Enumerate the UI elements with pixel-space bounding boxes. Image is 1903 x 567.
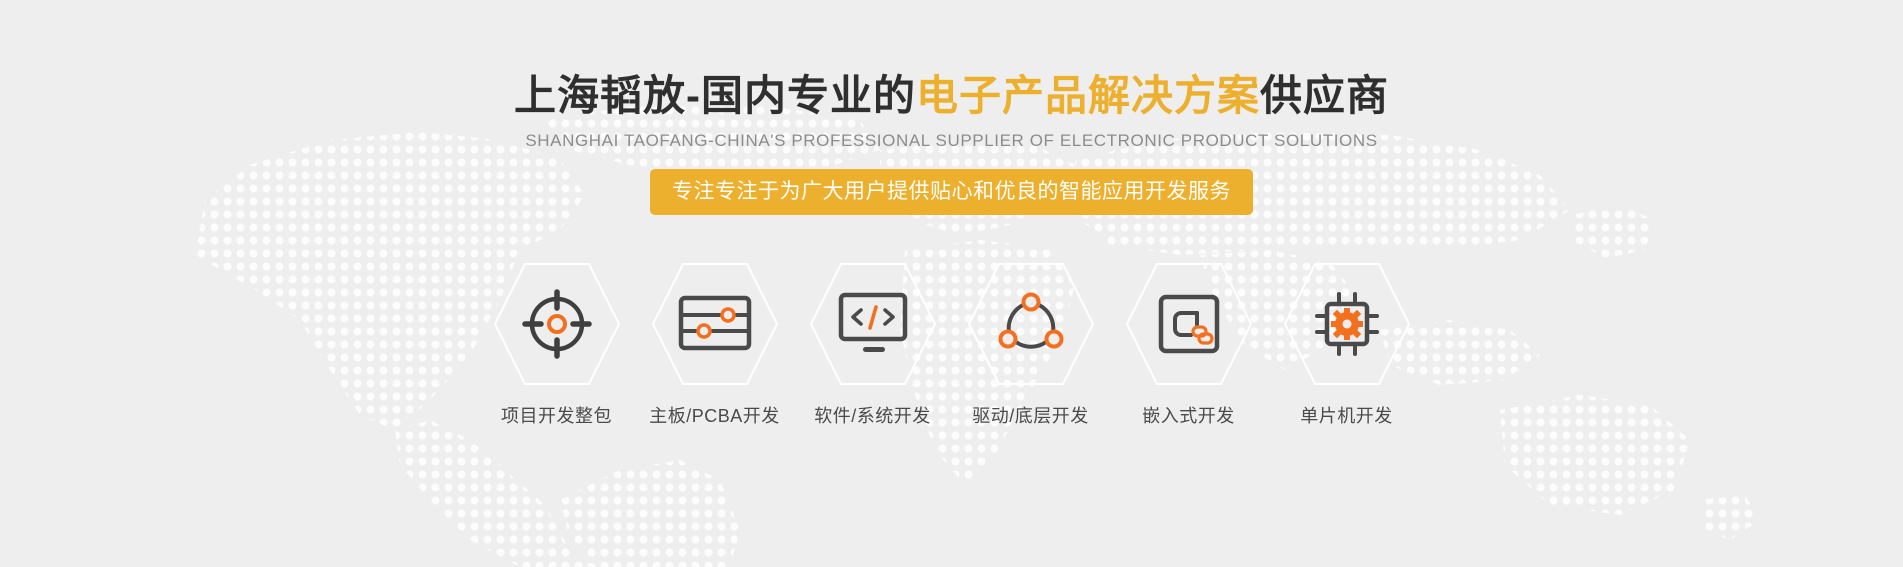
feature-item-pcba[interactable]: 主板/PCBA开发: [636, 262, 794, 428]
tagline-row: 专注专注于为广大用户提供贴心和优良的智能应用开发服务: [0, 169, 1903, 215]
headline-block: 上海韬放-国内专业的电子产品解决方案供应商 SHANGHAI TAOFANG-C…: [0, 72, 1903, 215]
feature-item-project-package[interactable]: 项目开发整包: [478, 262, 636, 428]
monitor-code-icon: [809, 262, 937, 386]
feature-label: 软件/系统开发: [814, 402, 931, 428]
hexagon-frame: [493, 262, 621, 386]
embedded-link-icon: [1125, 262, 1253, 386]
headline-part-2-accent: 电子产品解决方案: [916, 72, 1260, 119]
headline-part-1: 上海韬放-国内专业的: [514, 72, 916, 119]
feature-item-software[interactable]: 软件/系统开发: [794, 262, 952, 428]
circuit-board-icon: [651, 262, 779, 386]
feature-label: 主板/PCBA开发: [649, 402, 780, 428]
page-title: 上海韬放-国内专业的电子产品解决方案供应商: [0, 72, 1903, 121]
feature-label: 单片机开发: [1300, 402, 1393, 428]
feature-item-mcu[interactable]: 单片机开发: [1268, 262, 1426, 428]
headline-part-3: 供应商: [1260, 72, 1389, 119]
feature-label: 嵌入式开发: [1142, 402, 1235, 428]
hexagon-frame: [809, 262, 937, 386]
hexagon-frame: [1125, 262, 1253, 386]
hexagon-frame: [967, 262, 1095, 386]
microchip-gear-icon: [1283, 262, 1411, 386]
hexagon-frame: [651, 262, 779, 386]
subheadline: SHANGHAI TAOFANG-CHINA'S PROFESSIONAL SU…: [0, 131, 1903, 151]
feature-item-driver[interactable]: 驱动/底层开发: [952, 262, 1110, 428]
feature-label: 项目开发整包: [501, 402, 612, 428]
tagline-badge: 专注专注于为广大用户提供贴心和优良的智能应用开发服务: [650, 169, 1253, 215]
node-network-icon: [967, 262, 1095, 386]
hexagon-frame: [1283, 262, 1411, 386]
feature-item-embedded[interactable]: 嵌入式开发: [1110, 262, 1268, 428]
hero-banner: 上海韬放-国内专业的电子产品解决方案供应商 SHANGHAI TAOFANG-C…: [0, 0, 1903, 567]
crosshair-target-icon: [493, 262, 621, 386]
feature-label: 驱动/底层开发: [972, 402, 1089, 428]
feature-list: 项目开发整包 主板/PCBA开发: [478, 262, 1426, 428]
